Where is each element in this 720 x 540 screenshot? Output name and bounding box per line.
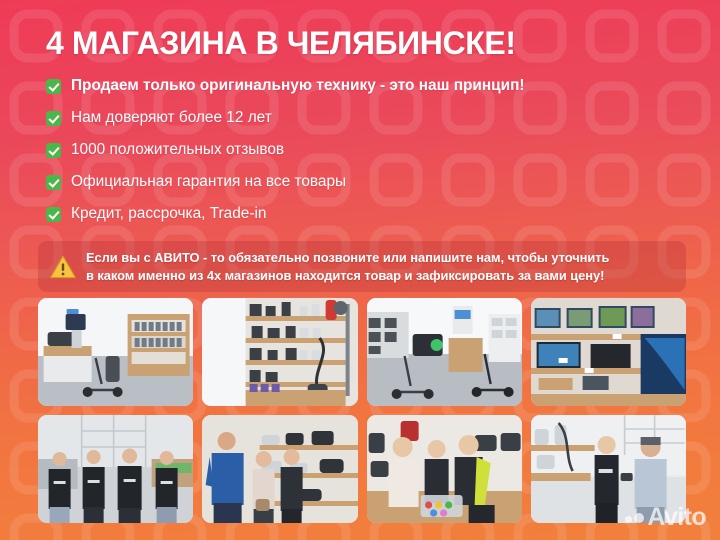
warning-notice-line1: Если вы с АВИТО - то обязательно позвони… <box>86 249 609 267</box>
list-item-label: Нам доверяют более 12 лет <box>71 108 272 128</box>
list-item-label: Официальная гарантия на все товары <box>71 172 346 192</box>
list-item: Нам доверяют более 12 лет <box>46 108 686 140</box>
photo-staff-team[interactable] <box>38 415 193 523</box>
warning-triangle-icon <box>49 253 77 281</box>
check-icon <box>46 175 61 190</box>
avito-store-promo-poster: 4 МАГАЗИНА В ЧЕЛЯБИНСКЕ! Продаем только … <box>0 0 720 540</box>
list-item: Продаем только оригинальную технику - эт… <box>46 76 686 108</box>
photo-customer-consultation[interactable] <box>531 415 686 523</box>
photo-counter-interaction[interactable] <box>367 415 522 523</box>
list-item-label: Кредит, рассрочка, Trade-in <box>71 204 266 224</box>
list-item: 1000 положительных отзывов <box>46 140 686 172</box>
photo-customers-browsing[interactable] <box>202 415 357 523</box>
photo-row-top <box>38 298 686 406</box>
list-item-label: Продаем только оригинальную технику - эт… <box>71 76 525 96</box>
warning-notice-line2: в каком именно из 4х магазинов находится… <box>86 267 609 285</box>
warning-notice-text: Если вы с АВИТО - то обязательно позвони… <box>86 249 609 285</box>
check-icon <box>46 207 61 222</box>
benefits-list: Продаем только оригинальную технику - эт… <box>46 76 686 236</box>
photo-row-bottom <box>38 415 686 523</box>
check-icon <box>46 79 61 94</box>
warning-notice: Если вы с АВИТО - то обязательно позвони… <box>38 241 686 292</box>
photo-appliance-shelves[interactable] <box>202 298 357 406</box>
photo-store-interior-scooters[interactable] <box>38 298 193 406</box>
check-icon <box>46 111 61 126</box>
list-item: Официальная гарантия на все товары <box>46 172 686 204</box>
photo-tv-display-wall[interactable] <box>531 298 686 406</box>
store-photo-gallery <box>38 298 686 532</box>
check-icon <box>46 143 61 158</box>
list-item-label: 1000 положительных отзывов <box>71 140 284 160</box>
list-item: Кредит, рассрочка, Trade-in <box>46 204 686 236</box>
photo-scooter-showroom[interactable] <box>367 298 522 406</box>
page-title: 4 МАГАЗИНА В ЧЕЛЯБИНСКЕ! <box>46 24 696 62</box>
